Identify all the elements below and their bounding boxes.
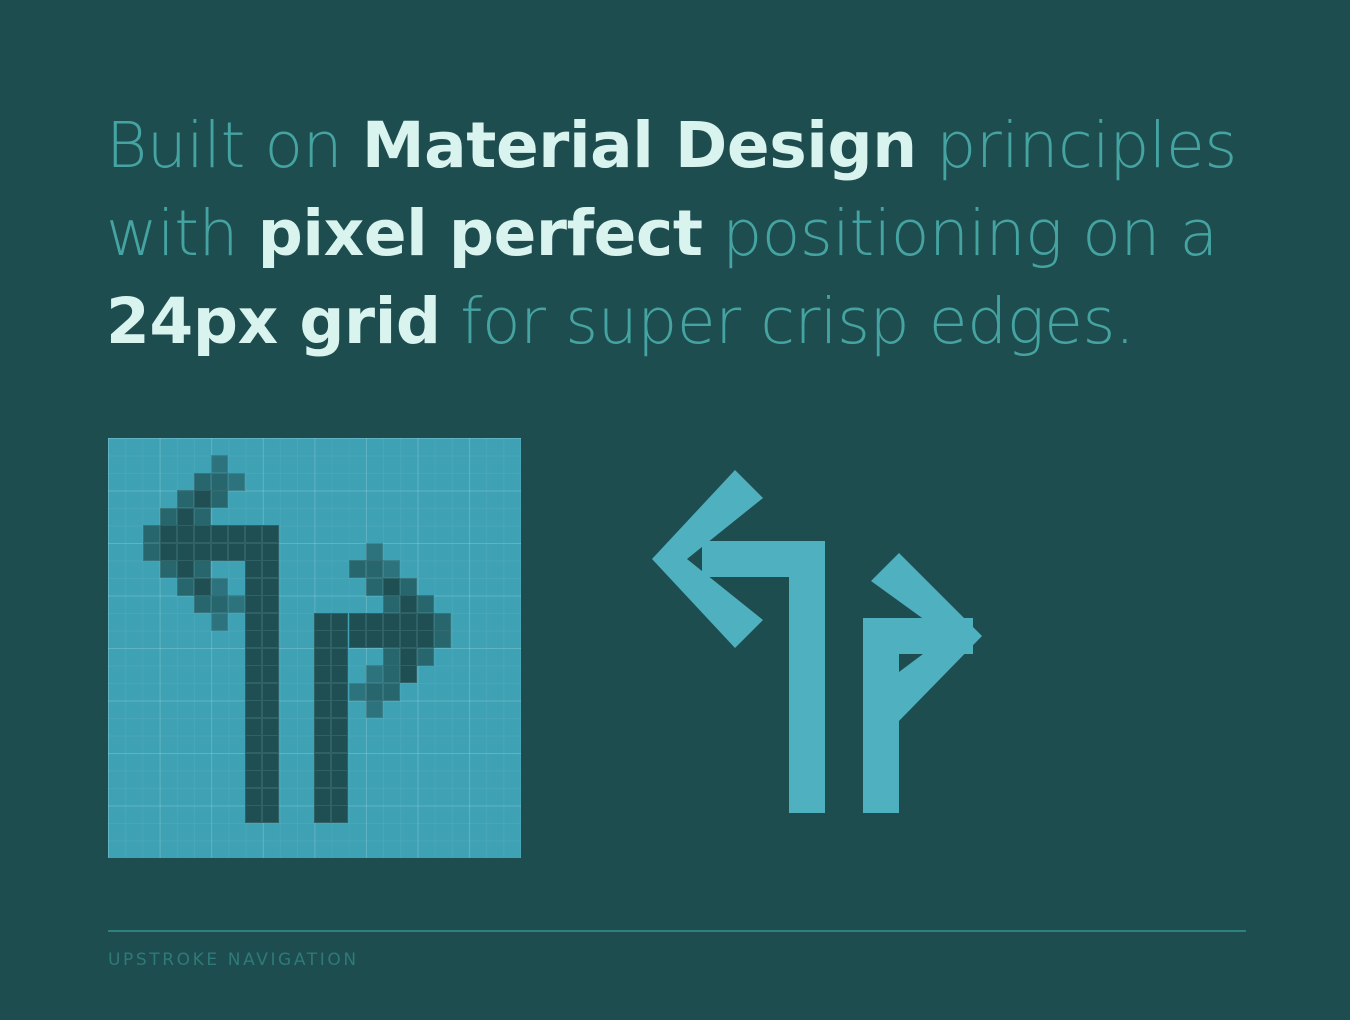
pixel-block — [262, 700, 279, 718]
pixel-block — [314, 683, 331, 701]
pixel-block — [331, 770, 348, 788]
pixel-block — [262, 683, 279, 701]
pixel-block — [383, 578, 400, 596]
vector-icon-panel — [650, 448, 1030, 838]
headline-part-4: for super crisp edges. — [441, 285, 1135, 358]
pixel-block — [177, 543, 194, 561]
pixel-block — [194, 543, 211, 561]
pixel-block — [417, 613, 434, 631]
headline-part-1: Built on — [106, 109, 362, 182]
pixel-block — [245, 718, 262, 736]
pixel-block — [143, 525, 160, 543]
pixel-block — [331, 683, 348, 701]
pixel-block — [160, 543, 177, 561]
pixel-block — [331, 788, 348, 806]
pixel-block — [366, 613, 383, 631]
pixel-block — [211, 525, 228, 543]
pixel-block — [245, 630, 262, 648]
pixel-block — [211, 473, 228, 491]
pixel-block — [262, 718, 279, 736]
pixel-block — [262, 735, 279, 753]
pixel-block — [160, 508, 177, 526]
footer-divider — [108, 930, 1246, 932]
pixel-block — [177, 508, 194, 526]
pixel-block — [383, 665, 400, 683]
pixel-block — [262, 525, 279, 543]
pixel-block — [366, 630, 383, 648]
pixel-block — [245, 648, 262, 666]
pixel-block — [262, 560, 279, 578]
pixel-block — [245, 560, 262, 578]
pixel-block — [314, 665, 331, 683]
pixel-block — [262, 665, 279, 683]
pixel-block — [262, 805, 279, 823]
pixel-block — [245, 753, 262, 771]
headline-emphasis-pixel-perfect: pixel perfect — [258, 197, 703, 270]
pixel-block — [245, 543, 262, 561]
pixel-block — [331, 753, 348, 771]
pixel-block — [383, 560, 400, 578]
pixel-block — [160, 525, 177, 543]
pixel-block — [262, 613, 279, 631]
pixelated-icon-panel — [108, 438, 521, 858]
pixel-block — [245, 595, 262, 613]
pixel-block — [245, 613, 262, 631]
pixel-block — [262, 595, 279, 613]
pixel-block — [194, 578, 211, 596]
pixel-block — [400, 630, 417, 648]
pixel-block — [194, 508, 211, 526]
pixel-block — [177, 578, 194, 596]
pixel-block — [245, 788, 262, 806]
pixel-block — [314, 770, 331, 788]
pixel-block — [383, 683, 400, 701]
pixel-block — [314, 718, 331, 736]
pixel-block — [262, 788, 279, 806]
pixel-block — [245, 525, 262, 543]
pixel-block — [245, 805, 262, 823]
pixel-block — [400, 578, 417, 596]
pixel-block — [331, 630, 348, 648]
pixel-block — [400, 665, 417, 683]
pixel-block — [314, 788, 331, 806]
slide-canvas: Built on Material Design principles with… — [0, 0, 1350, 1020]
pixel-block — [194, 595, 211, 613]
pixel-block — [245, 770, 262, 788]
pixel-block — [314, 613, 331, 631]
turn-left-arrow — [652, 470, 854, 813]
pixel-block — [160, 560, 177, 578]
pixel-block — [400, 613, 417, 631]
pixel-block — [349, 630, 366, 648]
pixel-block — [417, 595, 434, 613]
pixel-block — [228, 543, 245, 561]
pixel-block — [211, 490, 228, 508]
pixel-block — [228, 473, 245, 491]
pixel-block — [194, 560, 211, 578]
pixel-block — [383, 613, 400, 631]
footer-label: UPSTROKE NAVIGATION — [108, 950, 359, 970]
pixel-block — [366, 700, 383, 718]
pixel-block — [262, 630, 279, 648]
pixel-block — [262, 543, 279, 561]
pixel-block — [211, 613, 228, 631]
pixel-block — [314, 648, 331, 666]
pixel-block — [211, 578, 228, 596]
pixel-block — [211, 595, 228, 613]
pixel-block — [331, 700, 348, 718]
pixel-block — [211, 543, 228, 561]
pixel-block — [245, 735, 262, 753]
pixel-block — [262, 578, 279, 596]
pixel-block — [314, 700, 331, 718]
pixel-block — [245, 665, 262, 683]
pixel-block — [383, 630, 400, 648]
pixel-block — [245, 683, 262, 701]
pixel-block — [143, 543, 160, 561]
headline-part-3: positioning on a — [703, 197, 1218, 270]
pixel-block — [245, 578, 262, 596]
pixel-block — [331, 805, 348, 823]
pixel-block — [383, 595, 400, 613]
pixel-block — [417, 648, 434, 666]
pixel-block — [194, 525, 211, 543]
pixel-block — [331, 648, 348, 666]
turn-right-arrow — [863, 553, 982, 813]
pixel-block — [177, 560, 194, 578]
pixel-block — [331, 735, 348, 753]
pixel-block — [177, 490, 194, 508]
pixel-block — [262, 753, 279, 771]
pixel-block — [314, 630, 331, 648]
pixel-block — [366, 560, 383, 578]
pixel-block — [349, 683, 366, 701]
pixel-block — [349, 613, 366, 631]
pixel-block — [262, 770, 279, 788]
headline-emphasis-24px-grid: 24px grid — [106, 285, 441, 358]
pixel-block — [331, 665, 348, 683]
pixel-block — [400, 595, 417, 613]
pixel-block — [434, 613, 451, 631]
pixel-block — [314, 753, 331, 771]
pixel-block — [331, 613, 348, 631]
pixel-block — [314, 735, 331, 753]
pixel-block — [228, 525, 245, 543]
pixel-block — [177, 525, 194, 543]
pixel-block — [262, 648, 279, 666]
pixel-block — [245, 700, 262, 718]
pixel-block — [314, 805, 331, 823]
pixel-block — [383, 648, 400, 666]
pixel-block — [366, 665, 383, 683]
pixel-block — [194, 473, 211, 491]
pixel-block — [434, 630, 451, 648]
pixel-block — [400, 648, 417, 666]
pixel-block — [366, 578, 383, 596]
page-title: Built on Material Design principles with… — [106, 102, 1246, 366]
pixel-block — [417, 630, 434, 648]
pixel-block — [366, 683, 383, 701]
pixel-block — [228, 595, 245, 613]
pixel-block — [366, 543, 383, 561]
pixel-block — [211, 455, 228, 473]
pixel-block — [194, 490, 211, 508]
pixel-block — [331, 718, 348, 736]
pixel-block — [349, 560, 366, 578]
headline-emphasis-material-design: Material Design — [362, 109, 917, 182]
